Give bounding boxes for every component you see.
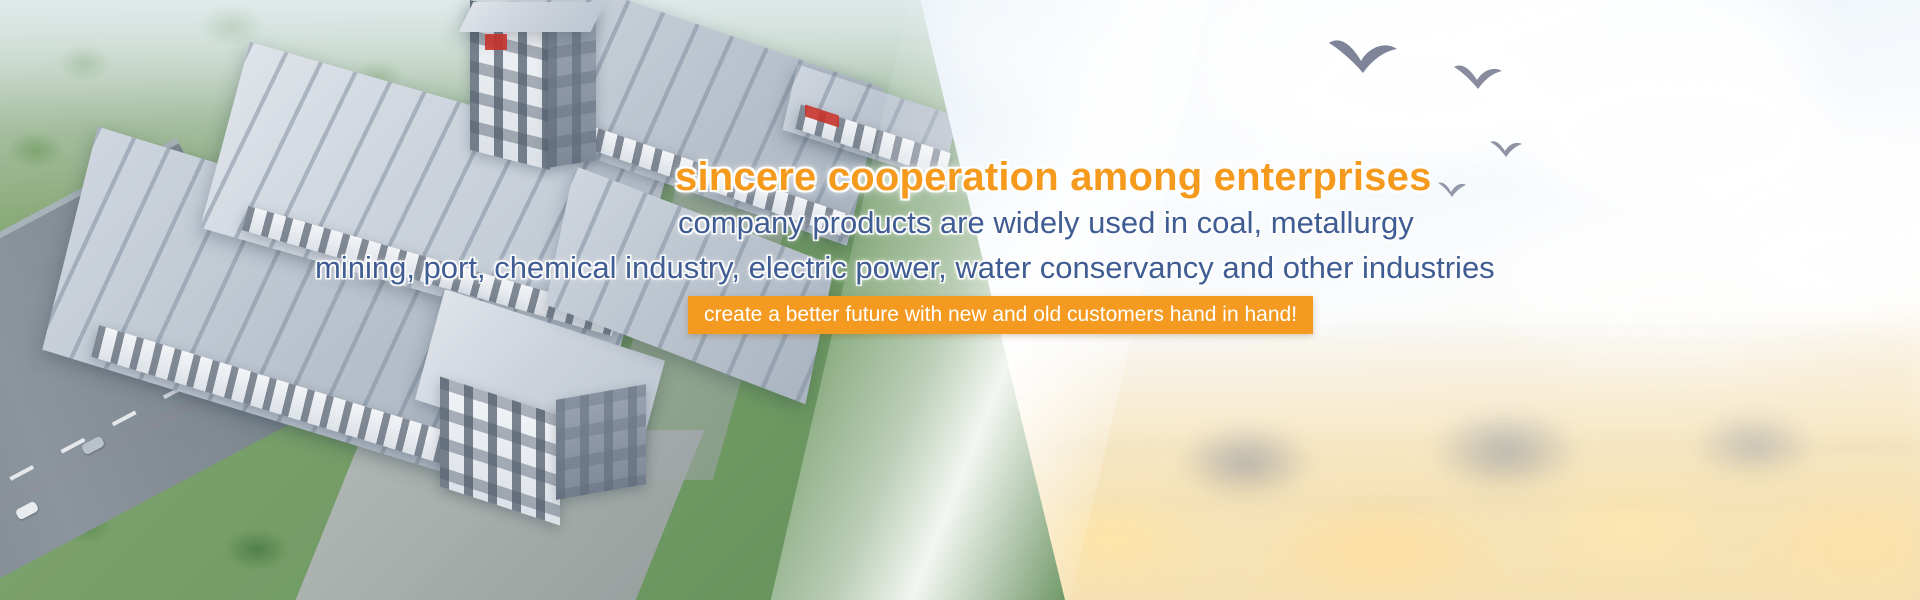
banner-cta-badge[interactable]: create a better future with new and old …: [688, 296, 1313, 334]
banner-subline-1: company products are widely used in coal…: [678, 205, 1414, 241]
banner-copy: sincere cooperation among enterprises co…: [0, 0, 1920, 600]
hero-banner: sincere cooperation among enterprises co…: [0, 0, 1920, 600]
banner-subline-2: mining, port, chemical industry, electri…: [315, 250, 1495, 286]
banner-headline: sincere cooperation among enterprises: [675, 155, 1432, 200]
